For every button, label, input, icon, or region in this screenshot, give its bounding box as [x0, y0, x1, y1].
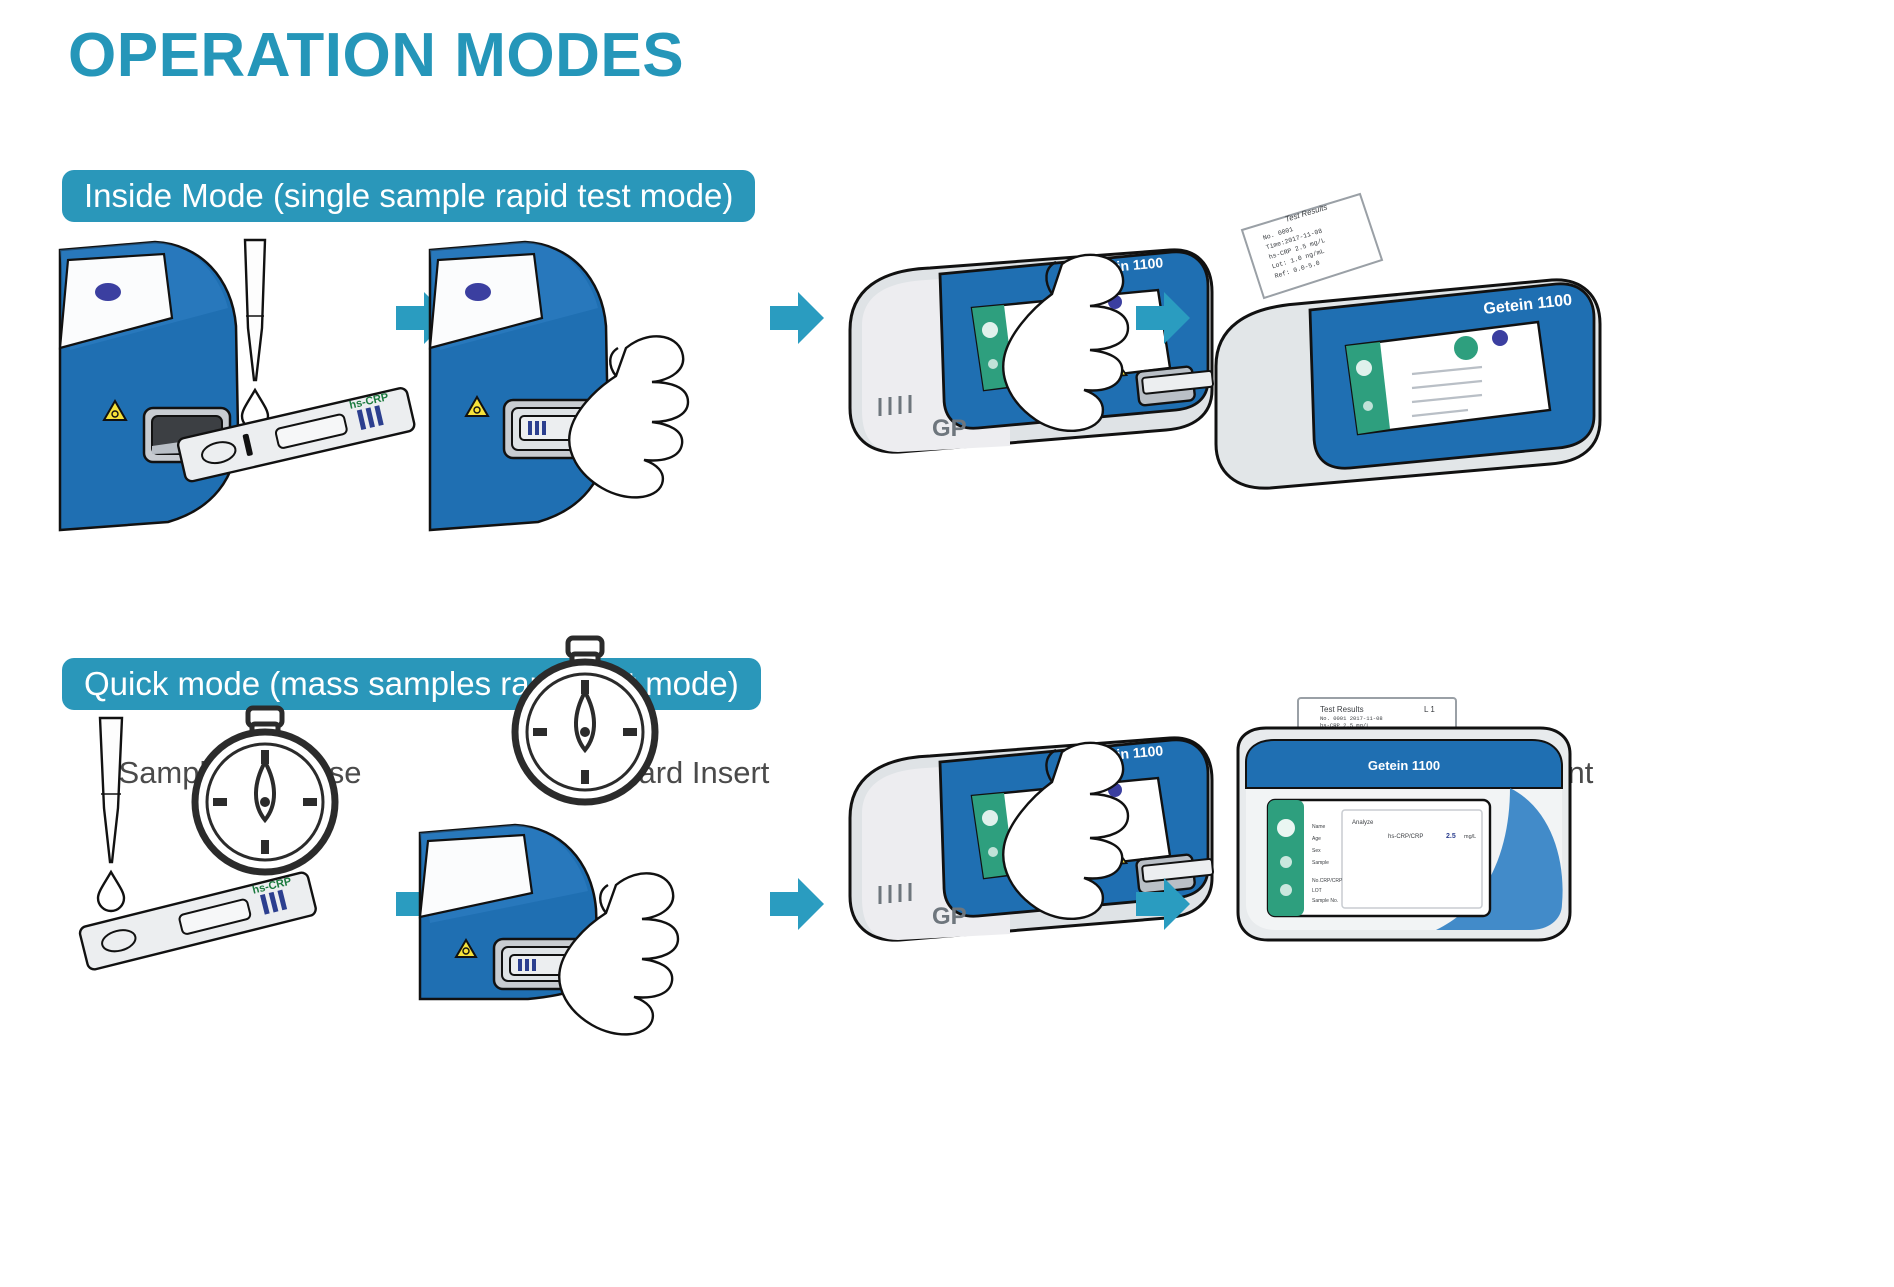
step-click-start-illustration: Getein 1100 GP: [840, 230, 1240, 530]
power-button-icon: [95, 283, 121, 301]
analyzer-front-icon: Getein 1100 Analyze hs-CRP/CRP 2.5 mg/L: [1238, 728, 1570, 940]
svg-text:Sample No.: Sample No.: [1312, 898, 1338, 904]
pipette-tip-icon: [245, 240, 265, 380]
device-brand-label: Getein 1100: [1368, 758, 1440, 773]
stopwatch-icon: [195, 708, 335, 872]
svg-text:Name: Name: [1312, 824, 1326, 830]
arrow-right-icon-3: [1136, 290, 1190, 346]
slip-corner: L 1: [1424, 705, 1435, 714]
svg-text:No. 0001 2017-11-08: No. 0001 2017-11-08: [1320, 715, 1383, 722]
step-result-print-illustration: Test Results No. 0001 Time:2017-11-08 hs…: [1200, 170, 1620, 530]
svg-text:LOT: LOT: [1312, 888, 1322, 894]
operation-modes-poster: OPERATION MODES Inside Mode (single samp…: [0, 0, 1894, 1287]
screen-breadcrumb: Analyze: [1352, 820, 1374, 826]
quick-mode-steps: hs-CRP: [0, 718, 1894, 1138]
step-result-print-quick-illustration: Test Results L 1 No. 0001 2017-11-08 hs-…: [1210, 678, 1610, 1018]
slip-header: Test Results: [1320, 705, 1364, 714]
device-logo: GP: [932, 415, 967, 442]
screen-value: 2.5: [1446, 833, 1456, 840]
stopwatch-icon: [515, 638, 655, 802]
inside-mode-steps: hs-CRP: [0, 230, 1894, 560]
step-timing-reaction-illustration: [420, 638, 780, 998]
arrow-right-icon-6: [1136, 876, 1190, 932]
svg-text:Sample: Sample: [1312, 860, 1329, 866]
analyzer-corner-icon: [60, 242, 238, 530]
step-test-card-insert-illustration: [430, 230, 760, 530]
pipette-tip-icon: [100, 718, 122, 862]
screen-unit: mg/L: [1464, 834, 1476, 840]
svg-text:Age: Age: [1312, 836, 1321, 842]
analyzer-full-icon: Getein 1100: [1216, 280, 1600, 488]
step-sample-dispense-illustration: hs-CRP: [60, 230, 390, 530]
printed-receipt: Test Results No. 0001 Time:2017-11-08 hs…: [1242, 194, 1382, 298]
svg-text:Sex: Sex: [1312, 848, 1321, 854]
device-screen: Analyze hs-CRP/CRP 2.5 mg/L Name Age Sex…: [1268, 800, 1490, 916]
power-button-icon: [465, 283, 491, 301]
step-click-start-quick-illustration: Getein 1100 GP: [840, 718, 1240, 1018]
arrow-right-icon-2: [770, 290, 824, 346]
step-sample-dispense-quick-illustration: hs-CRP: [70, 708, 410, 988]
device-logo: GP: [932, 903, 967, 930]
page-title: OPERATION MODES: [68, 20, 684, 91]
screen-field-label: hs-CRP/CRP: [1388, 834, 1423, 840]
svg-text:No.CRP/CRP: No.CRP/CRP: [1312, 878, 1343, 884]
droplet-icon: [98, 872, 124, 911]
section-banner-inside: Inside Mode (single sample rapid test mo…: [62, 170, 755, 222]
arrow-right-icon-5: [770, 876, 824, 932]
